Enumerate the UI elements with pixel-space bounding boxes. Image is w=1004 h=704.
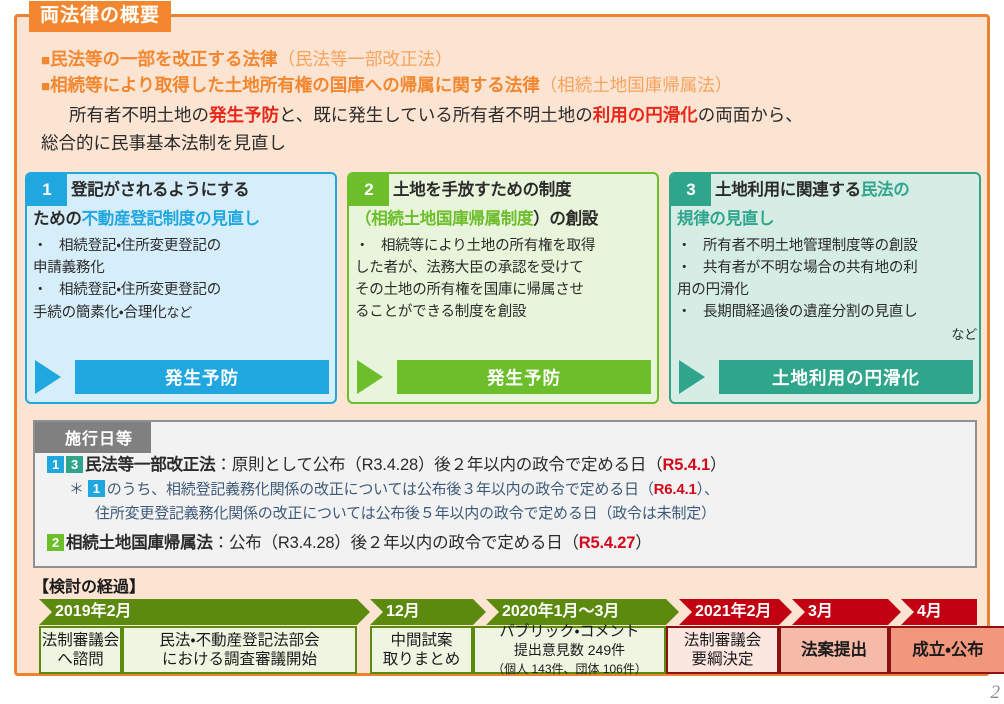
effective-date-line-3: 住所変更登記義務化関係の改正については公布後５年以内の政令で定める日（政令は未制… [47,502,967,526]
lead-line-1: 所有者不明土地の発生予防と、既に発生している所有者不明土地の利用の円滑化の両面か… [41,101,981,129]
effective-date-section: 施行日等 13民法等一部改正法：原則として公布（R3.4.28）後２年以内の政令… [33,420,977,568]
timeline-arrow-1[interactable]: 12月 [370,599,473,625]
list-item-text: 所有者不明土地管理制度等の創設 [703,238,918,254]
effective-date-4-rest-a: ：公布（R3.4.28）後２年以内の政令で定める日（ [213,534,579,552]
law-bullet-2-paren: （相続土地国庫帰属法） [540,75,733,95]
timeline-arrow-0[interactable]: 2019年2月 [39,599,357,625]
timeline-cell-0-line2: へ諮問 [57,650,104,669]
list-item-text: 長期間経過後の遺産分割の見直し [703,304,918,320]
measure-heading-3-line2: 規律の見直し [671,205,979,233]
timeline-cell-5[interactable]: 法案提出 [779,626,889,674]
list-item-text: 相続登記・住所変更登記の [59,238,221,254]
effective-date-4-red: R5.4.27 [579,534,635,552]
measure-heading-3-highlight-1: 民法の [861,181,910,199]
lead-1b: と、既に発生している所有者不明土地の [279,105,593,125]
bullet-dot-icon: ・ [677,236,703,257]
lead-1c: の両面から、 [698,105,803,125]
timeline-cell-6[interactable]: 成立・公布 [889,626,1004,674]
lead-1-red-1: 発生予防 [209,105,279,125]
lead-1a: 所有者不明土地の [69,105,209,125]
measure-cta-2[interactable]: 発生予防 [357,360,651,394]
list-item: 用の円滑化 [677,280,977,301]
effective-date-1-rest-b: ） [710,456,726,474]
asterisk-icon: ＊ [69,481,84,498]
measure-cta-3[interactable]: 土地利用の円滑化 [679,360,973,394]
effective-date-line-1: 13民法等一部改正法：原則として公布（R3.4.28）後２年以内の政令で定める日… [47,452,967,478]
triangle-right-icon [679,360,705,394]
list-item-text: 相続等により土地の所有権を取得 [381,238,595,254]
timeline-cell-0[interactable]: 法制審議会 へ諮問 [39,626,122,674]
timeline-arrow-5[interactable]: 4月 [901,599,977,625]
bullet-square-icon: ■ [41,78,50,95]
measure-heading-2-line2: （相続土地国庫帰属制度）の創設 [349,205,657,233]
effective-date-law-2: 相続土地国庫帰属法 [66,534,213,552]
law-bullet-list: ■民法等の一部を改正する法律（民法等一部改正法） ■相続等により取得した土地所有… [41,47,971,99]
timeline-cell-0-line1: 法制審議会 [42,631,120,650]
effective-date-line-2: ＊ 1のうち、相続登記義務化関係の改正については公布後３年以内の政令で定める日（… [47,478,967,502]
bullet-dot-icon: ・ [33,236,59,257]
list-item: した者が、法務大臣の承認を受けて [355,258,655,279]
effective-date-1-rest-a: ：原則として公布（R3.4.28）後２年以内の政令で定める日（ [215,456,662,474]
list-item: その土地の所有権を国庫に帰属させ [355,280,655,301]
timeline: 2019年2月 12月 2020年1月～3月 2021年2月 3月 4月 法制審… [39,599,977,674]
timeline-cell-2-line2: 取りまとめ [383,650,461,669]
list-item: ・長期間経過後の遺産分割の見直し [677,302,977,323]
triangle-right-icon [357,360,383,394]
tag-badge-2: 2 [47,534,64,551]
effective-date-law-1: 民法等一部改正法 [85,456,215,474]
measure-heading-1-line2: ための不動産登記制度の見直し [27,205,335,233]
timeline-cell-4-line1: 法制審議会 [684,631,762,650]
list-item-text: 申請義務化 [33,260,105,276]
bullet-dot-icon: ・ [33,280,59,301]
list-item: ・所有者不明土地管理制度等の創設 [677,236,977,257]
list-item-text: 共有者が不明な場合の共有地の利 [703,260,918,276]
measure-heading-1-highlight: 不動産登記制度の見直し [82,210,260,228]
list-item: ・相続等により土地の所有権を取得 [355,236,655,257]
list-item-text: 相続登記・住所変更登記の [59,282,221,298]
measure-etc-3-row: など [677,324,977,346]
list-item-text: した者が、法務大臣の承認を受けて [355,260,584,276]
list-item-text: 手続の簡素化・合理化 [33,305,166,321]
effective-date-body: 13民法等一部改正法：原則として公布（R3.4.28）後２年以内の政令で定める日… [47,452,967,556]
measure-cta-label-2[interactable]: 発生予防 [397,360,651,394]
timeline-cell-2[interactable]: 中間試案 取りまとめ [370,626,473,674]
timeline-cell-1-line1: 民法・不動産登記法部会 [159,631,319,650]
law-bullet-2: ■相続等により取得した土地所有権の国庫への帰属に関する法律（相続土地国庫帰属法） [41,73,971,99]
measure-heading-2-plain: ）の創設 [533,210,598,228]
effective-date-line-4: 2相続土地国庫帰属法：公布（R3.4.28）後２年以内の政令で定める日（R5.4… [47,530,967,556]
tag-badge-3: 3 [66,456,83,473]
law-bullet-1: ■民法等の一部を改正する法律（民法等一部改正法） [41,47,971,73]
measure-heading-3-line1: 土地利用に関連する民法の [671,176,979,204]
bullet-dot-icon: ・ [355,236,381,257]
tag-badge-1: 1 [47,456,64,473]
lead-paragraph: 所有者不明土地の発生予防と、既に発生している所有者不明土地の利用の円滑化の両面か… [41,101,981,157]
measure-cta-label-1[interactable]: 発生予防 [75,360,329,394]
timeline-cell-6-line1: 成立・公布 [912,641,984,660]
law-bullet-2-bold: 相続等により取得した土地所有権の国庫への帰属に関する法律 [50,75,540,95]
measure-list-2: ・相続等により土地の所有権を取得 した者が、法務大臣の承認を受けて その土地の所… [355,236,655,324]
measure-heading-2-line1: 土地を手放すための制度 [349,176,657,204]
list-item: ・共有者が不明な場合の共有地の利 [677,258,977,279]
timeline-cell-5-line1: 法案提出 [801,641,867,660]
effective-date-1-red: R5.4.1 [663,456,710,474]
law-bullet-1-paren: （民法等一部改正法） [278,49,453,69]
timeline-cell-3-line2: 提出意見数 249件 [514,641,625,660]
timeline-cell-2-line1: 中間試案 [390,631,452,650]
measure-heading-3-plain: 土地利用に関連する [715,181,861,199]
list-item-text: 用の円滑化 [677,282,749,298]
measure-box-2[interactable]: 2 土地を手放すための制度 （相続土地国庫帰属制度）の創設 ・相続等により土地の… [347,172,659,404]
measure-etc-3: など [951,324,977,345]
timeline-arrow-4[interactable]: 3月 [792,599,888,625]
law-bullet-1-bold: 民法等の一部を改正する法律 [50,49,278,69]
measure-etc-1: など [166,302,192,323]
measure-list-1: ・相続登記・住所変更登記の 申請義務化 ・相続登記・住所変更登記の 手続の簡素化… [33,236,333,325]
measure-heading-1-line1: 登記がされるようにする [27,176,335,204]
bullet-dot-icon: ・ [677,302,703,323]
measure-cta-1[interactable]: 発生予防 [35,360,329,394]
triangle-right-icon [35,360,61,394]
measure-heading-2-highlight: （相続土地国庫帰属制度 [355,210,533,228]
timeline-arrow-3[interactable]: 2021年2月 [679,599,779,625]
timeline-cell-1[interactable]: 民法・不動産登記法部会 における調査審議開始 [122,626,357,674]
measure-heading-1-plain: ための [33,210,82,228]
list-item-text: その土地の所有権を国庫に帰属させ [355,282,584,298]
effective-date-title: 施行日等 [35,422,151,453]
measure-list-3: ・所有者不明土地管理制度等の創設 ・共有者が不明な場合の共有地の利 用の円滑化 … [677,236,977,347]
list-item: ・相続登記・住所変更登記の [33,236,333,257]
page-number: 2 [991,682,1001,704]
overview-panel: 両法律の概要 ■民法等の一部を改正する法律（民法等一部改正法） ■相続等により取… [14,14,990,676]
effective-date-4-rest-b: ） [635,534,651,552]
slide-root: 両法律の概要 ■民法等の一部を改正する法律（民法等一部改正法） ■相続等により取… [0,0,1004,704]
effective-date-2-red: R6.4.1 [654,481,697,498]
measure-cta-label-3[interactable]: 土地利用の円滑化 [719,360,973,394]
list-item: ることができる制度を創設 [355,302,655,323]
lead-line-2: 総合的に民事基本法制を見直し [41,129,981,157]
list-item: ・相続登記・住所変更登記の [33,280,333,301]
measure-box-1[interactable]: 1 登記がされるようにする ための不動産登記制度の見直し ・相続登記・住所変更登… [25,172,337,404]
timeline-cell-4[interactable]: 法制審議会 要綱決定 [666,626,779,674]
measure-box-3[interactable]: 3 土地利用に関連する民法の 規律の見直し ・所有者不明土地管理制度等の創設 ・… [669,172,981,404]
timeline-cell-row: 法制審議会 へ諮問 民法・不動産登記法部会 における調査審議開始 中間試案 取り… [39,626,977,674]
effective-date-2-b: ）、 [697,481,719,498]
measure-heading-3-highlight-2: 規律の見直し [677,210,774,228]
list-item-text: ることができる制度を創設 [355,304,526,320]
timeline-cell-1-line2: における調査審議開始 [162,650,317,669]
timeline-cell-3-line3: （個人 143件、団体 106件） [492,660,647,679]
timeline-cell-3-line1: パブリック・コメント [499,622,639,641]
timeline-cell-4-line2: 要綱決定 [691,650,753,669]
timeline-cell-3[interactable]: パブリック・コメント 提出意見数 249件 （個人 143件、団体 106件） [473,626,666,674]
list-item: 手続の簡素化・合理化など [33,302,333,324]
bullet-dot-icon: ・ [677,258,703,279]
lead-1-red-2: 利用の円滑化 [593,105,698,125]
page-title: 両法律の概要 [29,1,171,32]
tag-badge-1: 1 [88,480,105,497]
bullet-square-icon: ■ [41,52,50,69]
timeline-heading: 【検討の経過】 [33,573,145,597]
effective-date-2-a: のうち、相続登記義務化関係の改正については公布後３年以内の政令で定める日（ [107,481,654,498]
measures-group: 1 登記がされるようにする ための不動産登記制度の見直し ・相続登記・住所変更登… [25,172,985,407]
list-item: 申請義務化 [33,258,333,279]
